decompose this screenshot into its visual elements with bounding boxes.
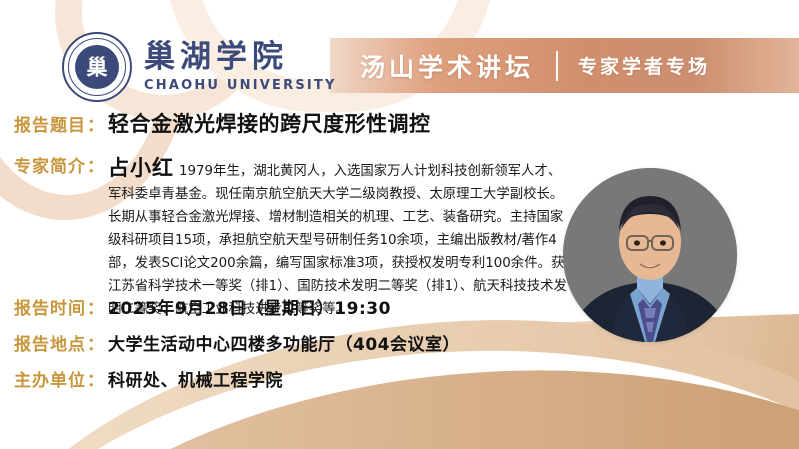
report-time-row: 报告时间 ： 2025年9月28日（星期日）19:30 (14, 294, 391, 319)
banner-title: 汤山学术讲坛 (360, 48, 534, 84)
banner-divider (556, 51, 558, 81)
university-identity: 巢 巢湖学院 CHAOHU UNIVERSITY (62, 32, 337, 102)
organizer-row: 主办单位 ： 科研处、机械工程学院 (14, 366, 283, 391)
portrait-illustration (563, 168, 737, 342)
university-name-cn: 巢湖学院 (144, 41, 337, 74)
university-names: 巢湖学院 CHAOHU UNIVERSITY (144, 41, 337, 92)
lecture-poster: 汤山学术讲坛 专家学者专场 巢 巢湖学院 CHAOHU UNIVERSITY (0, 0, 799, 449)
organizer-label: 主办单位 (14, 366, 86, 391)
seal-glyph: 巢 (75, 51, 119, 81)
report-place-colon: ： (87, 330, 104, 355)
university-name-en: CHAOHU UNIVERSITY (144, 78, 337, 93)
speaker-bio-colon: ： (87, 152, 104, 177)
report-time-value: 2025年9月28日（星期日）19:30 (108, 294, 391, 319)
report-title-value: 轻合金激光焊接的跨尺度形性调控 (108, 108, 431, 138)
report-title-row: 报告题目 ： 轻合金激光焊接的跨尺度形性调控 (14, 108, 431, 138)
report-time-colon: ： (87, 294, 104, 319)
report-place-value: 大学生活动中心四楼多功能厅（404会议室） (108, 330, 460, 355)
report-place-label: 报告地点 (14, 330, 86, 355)
report-time-label: 报告时间 (14, 294, 86, 319)
chaohu-university-seal-icon: 巢 (62, 32, 132, 102)
report-place-row: 报告地点 ： 大学生活动中心四楼多功能厅（404会议室） (14, 330, 460, 355)
speaker-name: 占小红 (108, 156, 174, 180)
organizer-colon: ： (87, 366, 104, 391)
report-title-colon: ： (87, 111, 104, 136)
speaker-bio-label: 专家简介 (14, 152, 86, 177)
forum-banner: 汤山学术讲坛 专家学者专场 (330, 38, 799, 93)
report-title-label: 报告题目 (14, 111, 86, 136)
speaker-portrait (563, 168, 737, 342)
seal-core: 巢 (75, 45, 119, 89)
decorative-ribbon-dark (0, 339, 799, 449)
banner-subtitle: 专家学者专场 (578, 52, 710, 79)
organizer-value: 科研处、机械工程学院 (108, 366, 283, 391)
